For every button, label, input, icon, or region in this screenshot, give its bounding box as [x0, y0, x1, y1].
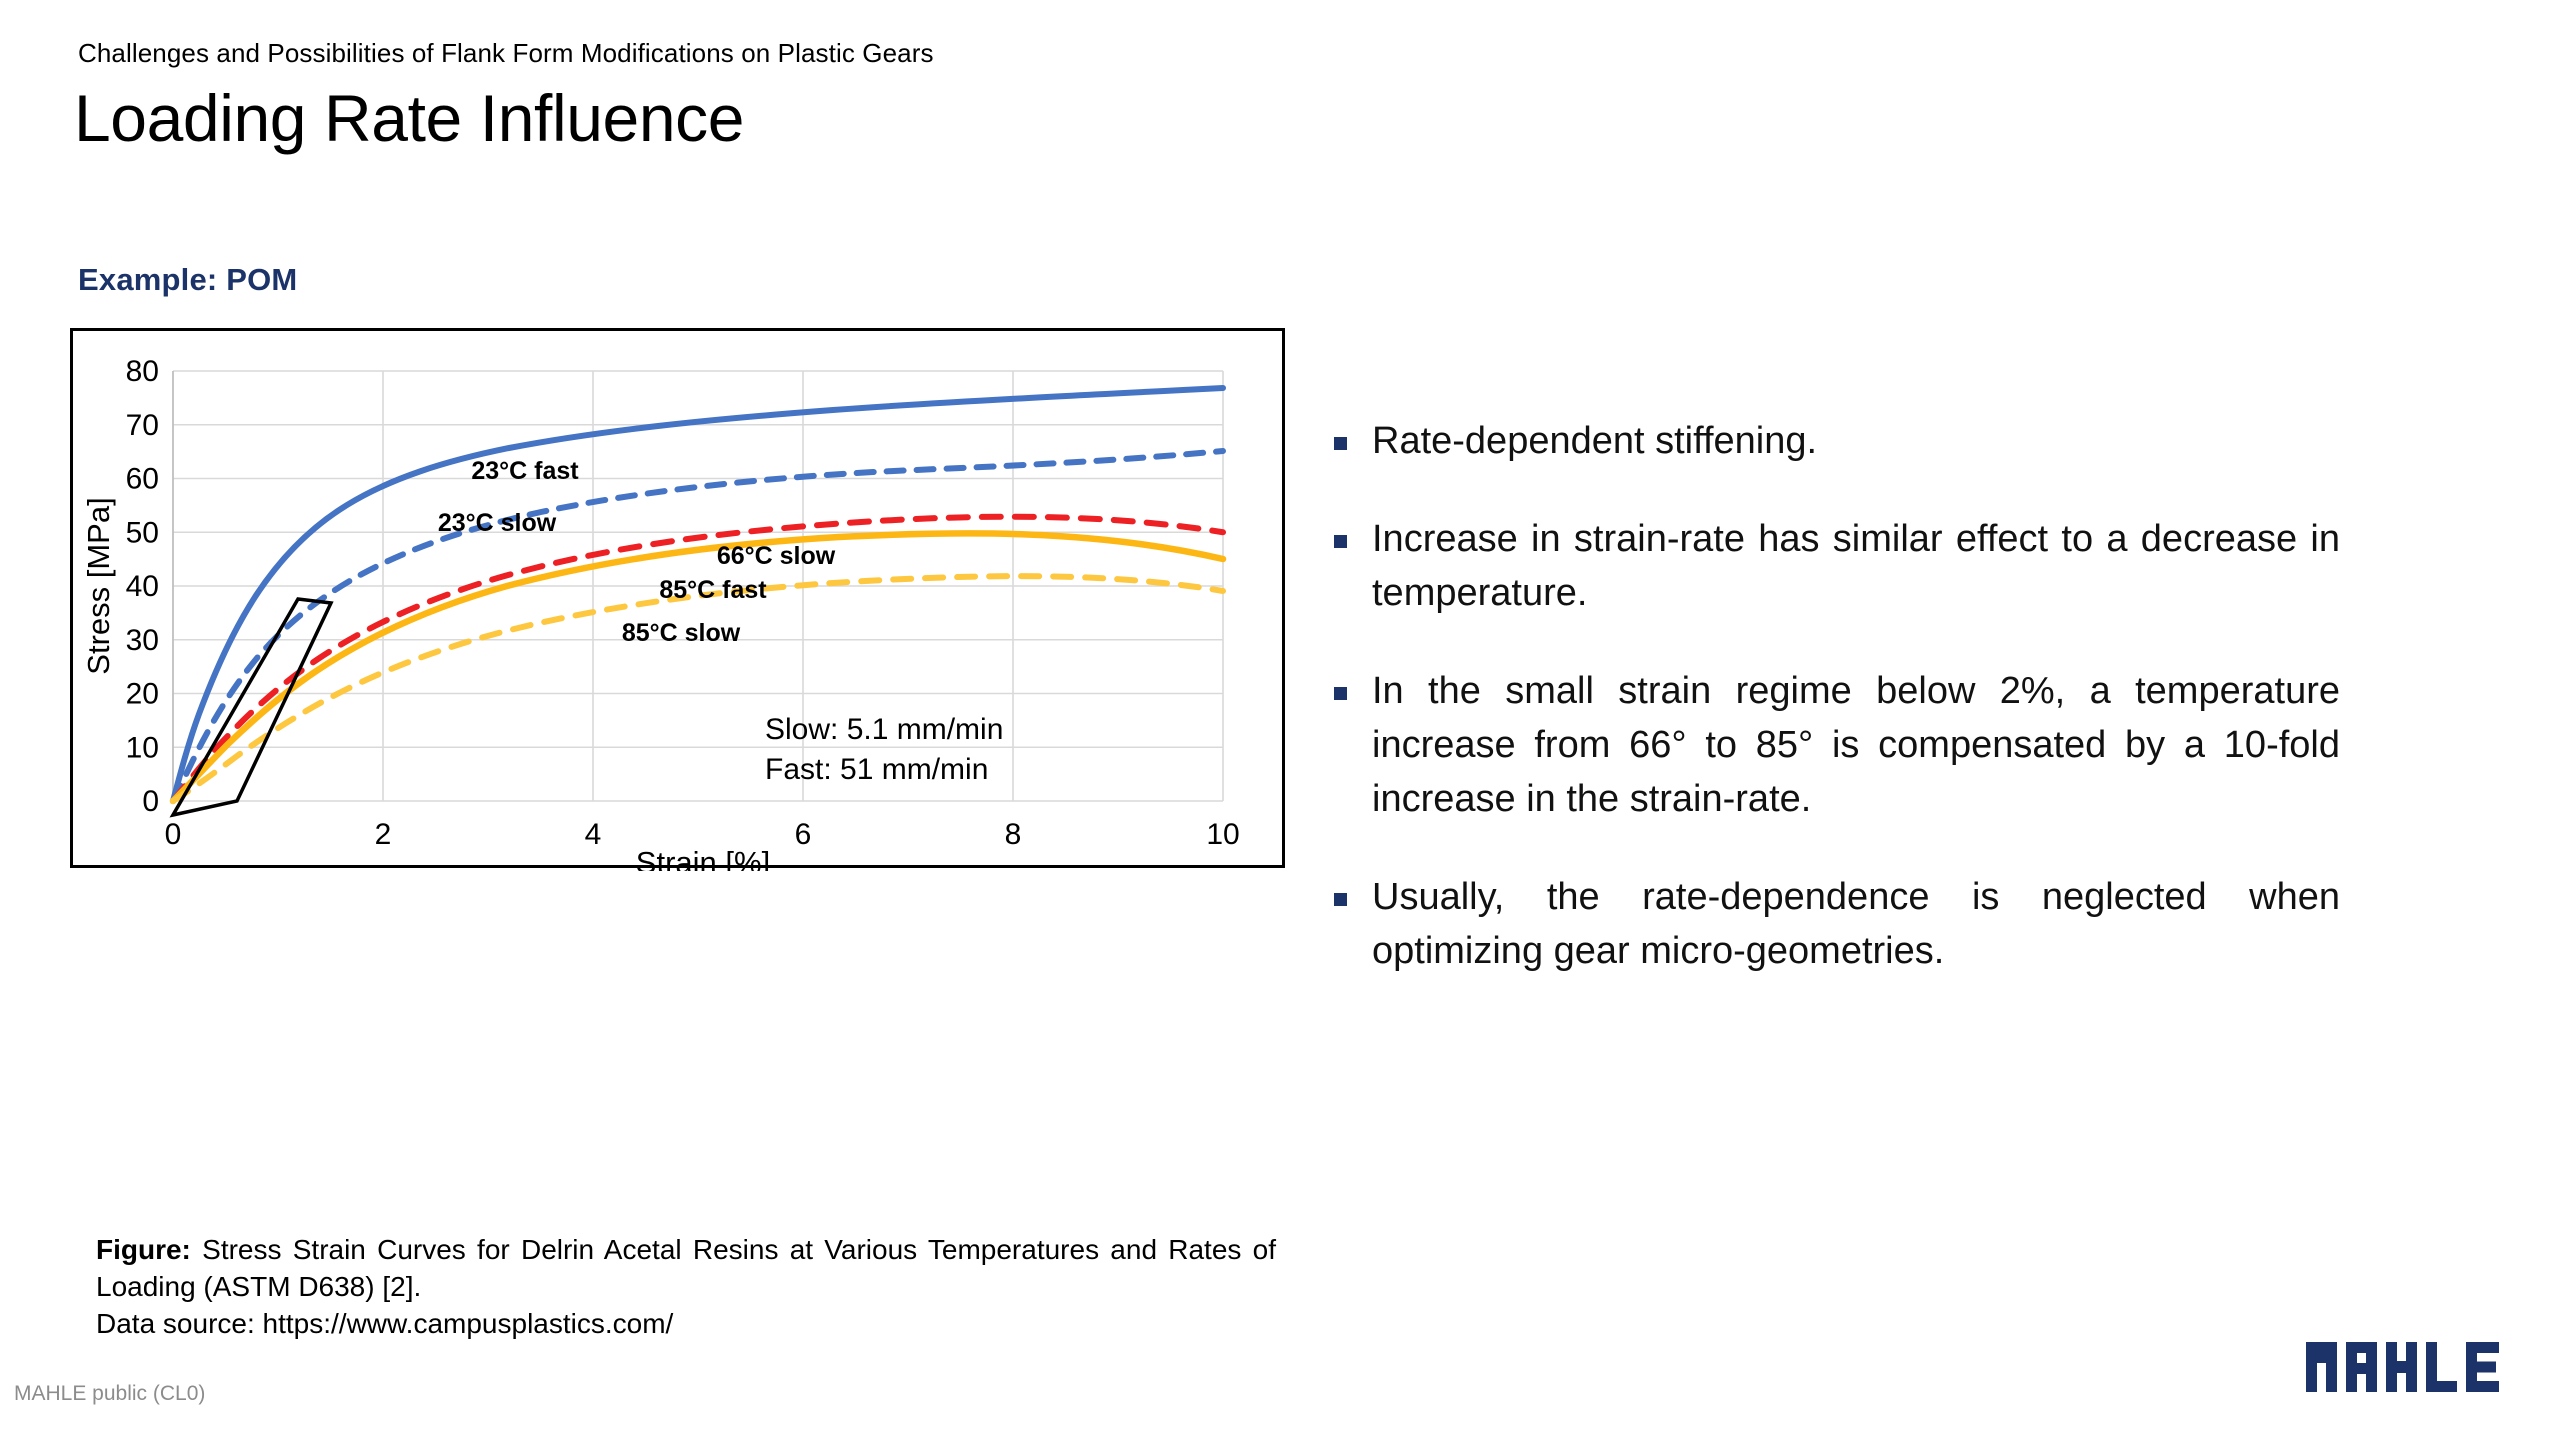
svg-text:10: 10 [126, 731, 159, 764]
y-axis-ticks: 80 70 60 50 40 30 20 10 0 [126, 355, 159, 818]
caption-text: Stress Strain Curves for Delrin Acetal R… [96, 1234, 1276, 1302]
svg-text:0: 0 [142, 785, 159, 818]
list-item: Rate-dependent stiffening. [1330, 415, 2340, 469]
bullet-square-icon [1334, 687, 1347, 700]
list-item: Increase in strain-rate has similar effe… [1330, 513, 2340, 621]
x-axis-title: Strain [%] [636, 845, 770, 871]
label-23c-slow: 23°C slow [438, 509, 557, 537]
label-85c-slow: 85°C slow [622, 619, 741, 647]
example-label: Example: POM [78, 262, 297, 298]
svg-text:60: 60 [126, 463, 159, 496]
svg-text:70: 70 [126, 409, 159, 442]
bullet-text: Rate-dependent stiffening. [1372, 415, 2340, 469]
svg-text:50: 50 [126, 516, 159, 549]
svg-text:2: 2 [375, 818, 392, 851]
page-title: Loading Rate Influence [74, 84, 744, 153]
label-23c-fast: 23°C fast [471, 457, 579, 485]
svg-text:4: 4 [585, 818, 602, 851]
svg-text:0: 0 [165, 818, 182, 851]
annotation-slow-rate: Slow: 5.1 mm/min [765, 713, 1003, 746]
svg-text:8: 8 [1005, 818, 1022, 851]
bullet-text: Increase in strain-rate has similar effe… [1372, 513, 2340, 621]
series-85c-fast [173, 533, 1223, 801]
caption-prefix: Figure: [96, 1234, 191, 1265]
svg-text:20: 20 [126, 678, 159, 711]
classification-note: MAHLE public (CL0) [14, 1382, 205, 1406]
annotation-fast-rate: Fast: 51 mm/min [765, 753, 988, 786]
svg-text:10: 10 [1206, 818, 1239, 851]
stress-strain-chart: 23°C fast 23°C slow 66°C slow 85°C fast … [73, 331, 1288, 871]
list-item: In the small strain regime below 2%, a t… [1330, 665, 2340, 827]
svg-text:40: 40 [126, 570, 159, 603]
svg-text:80: 80 [126, 355, 159, 388]
mahle-logo [2306, 1336, 2516, 1398]
bullet-text: In the small strain regime below 2%, a t… [1372, 665, 2340, 827]
slide-eyebrow: Challenges and Possibilities of Flank Fo… [78, 38, 934, 69]
bullet-list: Rate-dependent stiffening. Increase in s… [1330, 415, 2340, 979]
y-axis-title: Stress [MPa] [81, 497, 116, 674]
caption-source: Data source: https://www.campusplastics.… [96, 1306, 1276, 1343]
list-item: Usually, the rate-dependence is neglecte… [1330, 871, 2340, 979]
bullet-square-icon [1334, 893, 1347, 906]
bullet-text: Usually, the rate-dependence is neglecte… [1372, 871, 2340, 979]
bullet-square-icon [1334, 437, 1347, 450]
label-85c-fast: 85°C fast [659, 576, 767, 604]
series-85c-slow [173, 576, 1223, 801]
figure-container: 23°C fast 23°C slow 66°C slow 85°C fast … [70, 328, 1285, 868]
figure-caption: Figure: Stress Strain Curves for Delrin … [96, 1232, 1276, 1343]
svg-text:30: 30 [126, 624, 159, 657]
bullet-square-icon [1334, 535, 1347, 548]
label-66c-slow: 66°C slow [717, 542, 836, 570]
svg-text:6: 6 [795, 818, 812, 851]
